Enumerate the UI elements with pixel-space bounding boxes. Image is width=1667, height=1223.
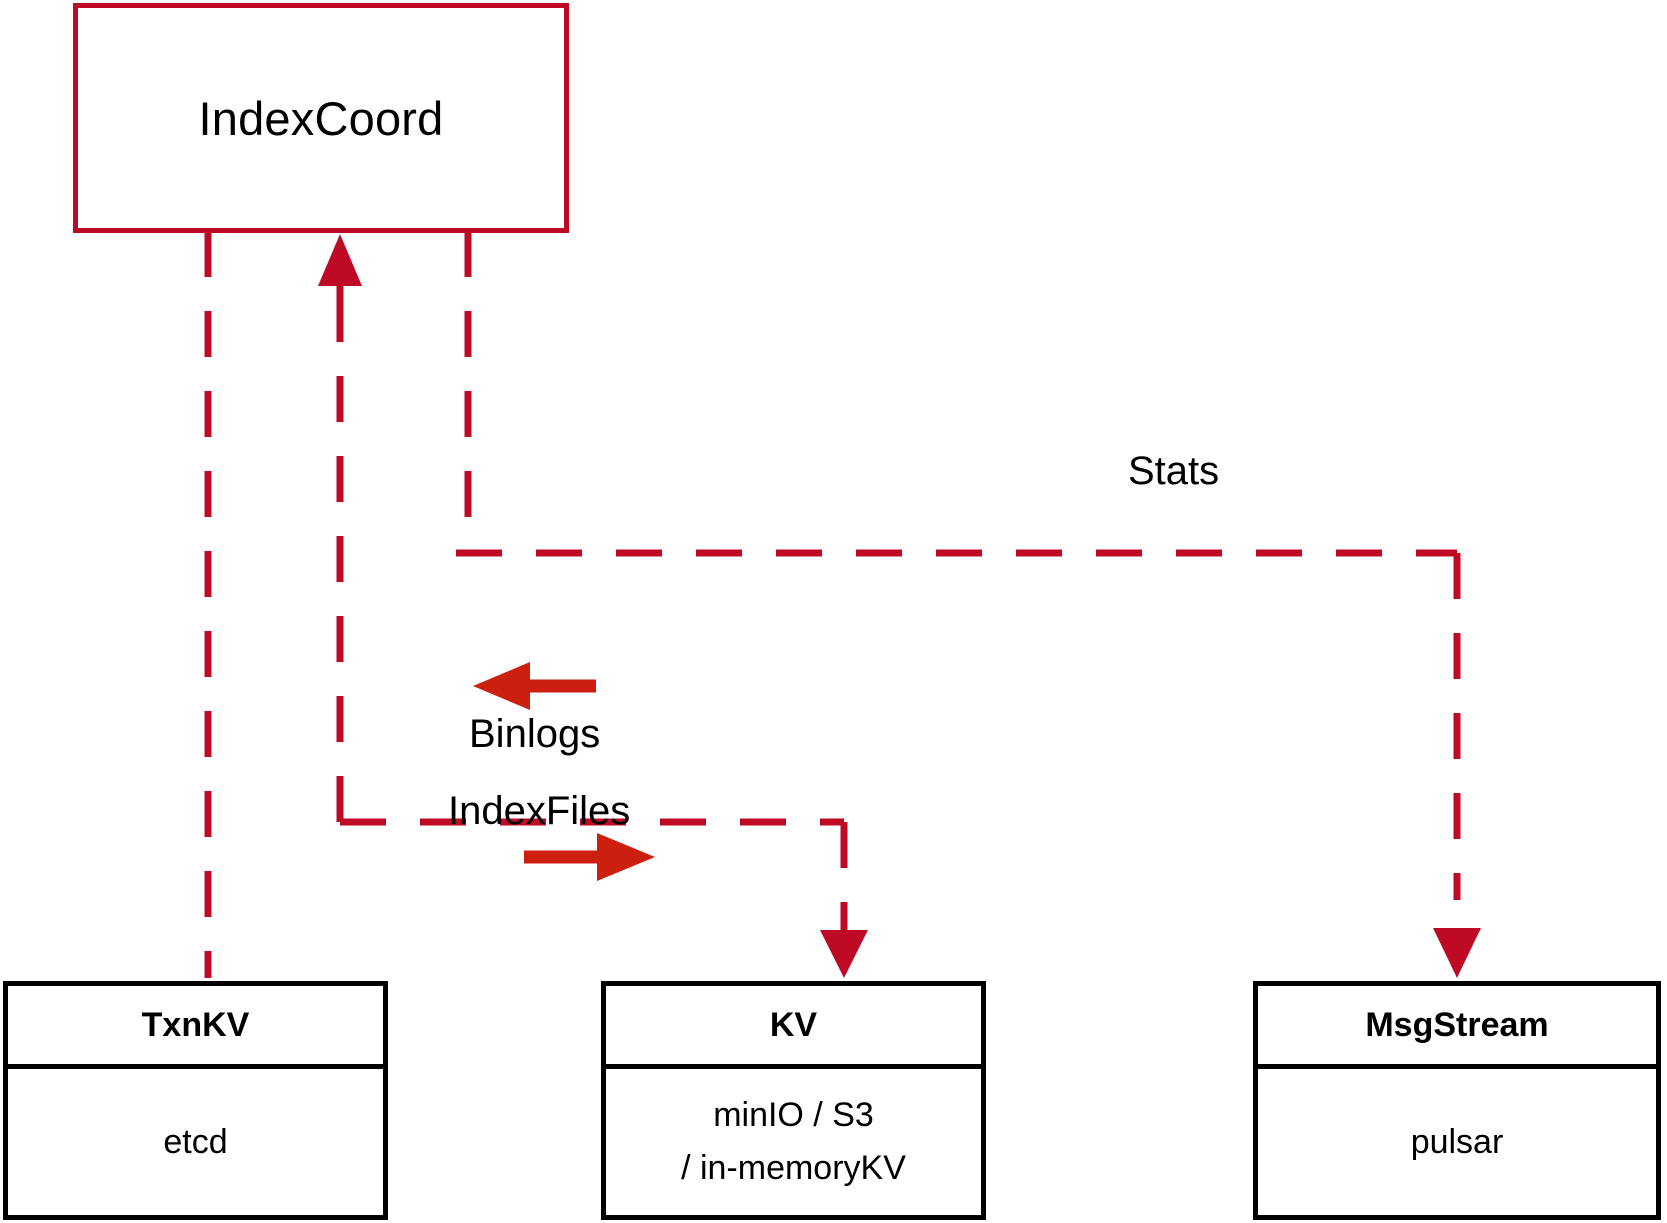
edge-label-binlogs: Binlogs (469, 712, 600, 757)
node-msgstream-body-line: pulsar (1411, 1116, 1504, 1169)
node-msgstream-body: pulsar (1258, 1069, 1656, 1215)
edge-label-indexfiles: IndexFiles (448, 789, 630, 834)
binlogs-arrow-icon (473, 662, 596, 710)
indexfiles-arrow-icon (524, 833, 655, 881)
node-index-coord-label: IndexCoord (199, 91, 444, 146)
node-msgstream[interactable]: MsgStream pulsar (1253, 981, 1661, 1220)
node-txnkv-body-line: etcd (163, 1116, 227, 1169)
node-kv-header: KV (606, 986, 981, 1069)
node-msgstream-header: MsgStream (1258, 986, 1656, 1069)
node-kv-body-line: minIO / S3 (713, 1089, 874, 1142)
node-txnkv[interactable]: TxnKV etcd (3, 981, 388, 1220)
node-kv-body: minIO / S3 / in-memoryKV (606, 1069, 981, 1215)
node-index-coord[interactable]: IndexCoord (73, 3, 569, 233)
diagram-canvas: IndexCoord TxnKV etcd KV minIO / S3 / in… (0, 0, 1667, 1223)
node-kv[interactable]: KV minIO / S3 / in-memoryKV (601, 981, 986, 1220)
arrowhead-msgstream-icon (1433, 928, 1481, 978)
arrowhead-indexcoord-icon (318, 234, 362, 286)
node-txnkv-body: etcd (8, 1069, 383, 1215)
edge-label-stats: Stats (1128, 449, 1219, 494)
node-txnkv-header: TxnKV (8, 986, 383, 1069)
node-kv-body-line: / in-memoryKV (681, 1142, 906, 1195)
arrowhead-kv-icon (820, 930, 868, 978)
